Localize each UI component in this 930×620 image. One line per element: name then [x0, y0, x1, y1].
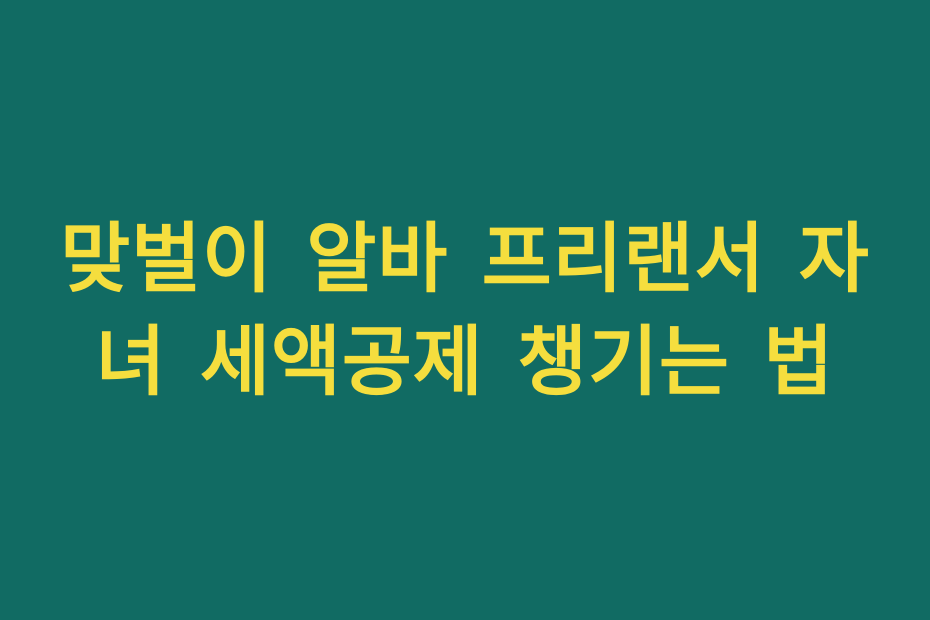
title-line-1: 맞벌이 알바 프리랜서 자: [35, 207, 895, 310]
title-text-block: 맞벌이 알바 프리랜서 자 녀 세액공제 챙기는 법: [35, 207, 895, 413]
title-line-2: 녀 세액공제 챙기는 법: [35, 310, 895, 413]
title-card: 맞벌이 알바 프리랜서 자 녀 세액공제 챙기는 법: [0, 0, 930, 620]
